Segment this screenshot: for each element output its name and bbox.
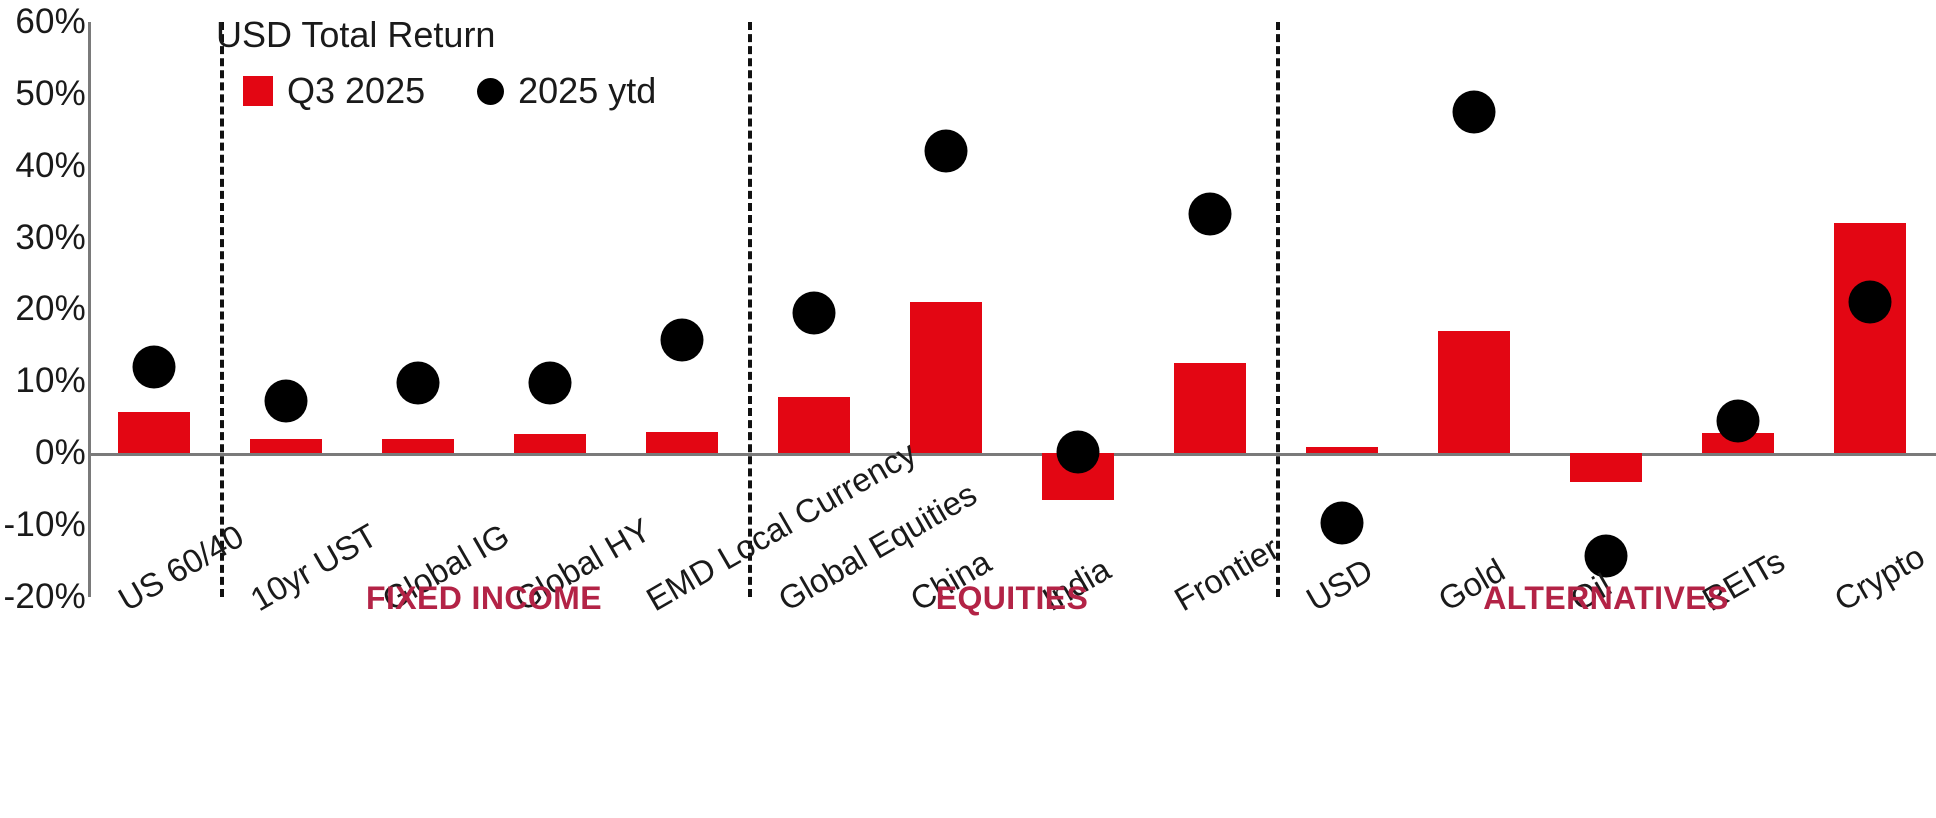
dot-global-ig (397, 361, 440, 404)
dot-emd-local-currency (661, 319, 704, 362)
legend-item-q3-2025[interactable]: Q3 2025 (243, 70, 425, 112)
dot-global-equities (793, 291, 836, 334)
section-separator (748, 22, 752, 597)
section-title-alternatives: ALTERNATIVES (1483, 580, 1728, 617)
dot-us-60-40 (133, 345, 176, 388)
y-tick-10: 10% (15, 361, 86, 401)
bar-10yr-ust (250, 439, 321, 453)
y-tick-neg20: -20% (3, 577, 86, 617)
section-title-fixed-income: FIXED INCOME (366, 580, 602, 617)
bar-global-ig (382, 439, 453, 453)
section-separator (220, 22, 224, 597)
bar-global-equities (778, 397, 849, 453)
dot-crypto (1849, 281, 1892, 324)
dot-reits (1717, 399, 1760, 442)
y-tick-30: 30% (15, 218, 86, 258)
bar-crypto (1834, 223, 1905, 453)
y-axis-tick-labels: 60%50%40%30%20%10%0%-10%-20% (0, 0, 86, 818)
plot-area (88, 0, 1936, 818)
dot-10yr-ust (265, 379, 308, 422)
y-tick-50: 50% (15, 74, 86, 114)
y-tick-20: 20% (15, 289, 86, 329)
bar-gold (1438, 331, 1509, 453)
dot-usd (1321, 502, 1364, 545)
bar-china (910, 302, 981, 453)
bar-us-60-40 (118, 412, 189, 453)
legend-title: USD Total Return (216, 14, 495, 56)
legend-label: 2025 ytd (518, 70, 656, 112)
section-separator (1276, 22, 1280, 597)
legend-item-2025-ytd[interactable]: 2025 ytd (477, 70, 656, 112)
y-tick-40: 40% (15, 146, 86, 186)
bar-oil (1570, 453, 1641, 482)
bar-frontier (1174, 363, 1245, 453)
legend-label: Q3 2025 (287, 70, 425, 112)
dot-india (1057, 430, 1100, 473)
section-title-equities: EQUITIES (936, 580, 1089, 617)
dot-frontier (1189, 192, 1232, 235)
legend: Q3 20252025 ytd (243, 70, 656, 112)
bar-emd-local-currency (646, 432, 717, 453)
bar-usd (1306, 447, 1377, 453)
bar-global-hy (514, 434, 585, 453)
legend-circle-icon (477, 78, 504, 105)
dot-global-hy (529, 361, 572, 404)
dot-gold (1453, 90, 1496, 133)
legend-square-icon (243, 76, 273, 106)
dot-china (925, 130, 968, 173)
zero-baseline (88, 453, 1936, 456)
y-tick-0: 0% (35, 433, 86, 473)
chart-canvas: 60%50%40%30%20%10%0%-10%-20% US 60/4010y… (0, 0, 1936, 818)
y-tick-neg10: -10% (3, 505, 86, 545)
y-tick-60: 60% (15, 2, 86, 42)
